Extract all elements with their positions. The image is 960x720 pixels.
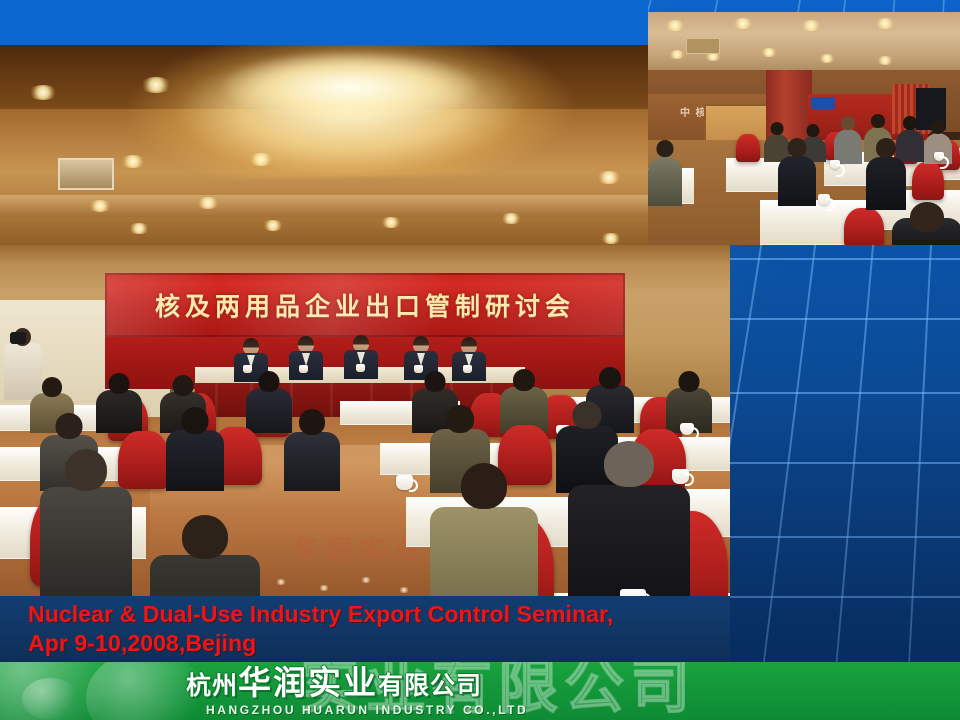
coffee-mug bbox=[620, 589, 646, 596]
inset-ceiling-spotlight bbox=[874, 18, 896, 29]
company-logo: 杭州华润实业有限公司 HANGZHOU HUARUN INDUSTRY CO.,… bbox=[186, 664, 786, 720]
presentation-slide: 核及两用品企业出口管制研讨会 华润实业 bbox=[0, 0, 960, 720]
slide-caption: Nuclear & Dual-Use Industry Export Contr… bbox=[0, 596, 730, 662]
top-blue-strip bbox=[0, 0, 648, 45]
inset-ceiling-spotlight bbox=[876, 56, 894, 65]
coffee-mug bbox=[672, 469, 689, 484]
table-cup bbox=[356, 364, 365, 372]
banner-fabric-sheen bbox=[105, 273, 625, 337]
inset-ceiling-spotlight bbox=[664, 20, 686, 31]
ceiling-spotlight bbox=[262, 220, 284, 231]
chandelier-core bbox=[175, 47, 525, 127]
inset-ceiling-spotlight bbox=[760, 48, 778, 57]
delegate bbox=[500, 369, 548, 433]
delegate bbox=[568, 441, 690, 596]
inset-coffee-mug bbox=[830, 160, 840, 169]
inset-chair bbox=[736, 134, 760, 162]
delegate bbox=[284, 409, 340, 491]
inset-delegate bbox=[866, 138, 906, 210]
ceiling-spotlight bbox=[140, 77, 172, 93]
ceiling-spotlight bbox=[248, 153, 274, 166]
ceiling-spotlight bbox=[88, 200, 112, 212]
caption-line-date-location: Apr 9-10,2008,Bejing bbox=[28, 629, 730, 658]
inset-ceiling-spotlight bbox=[800, 20, 822, 31]
ceiling-spotlight bbox=[28, 85, 58, 100]
delegate bbox=[40, 449, 132, 596]
company-name-chinese: 杭州华润实业有限公司 bbox=[186, 664, 482, 702]
ceiling-spotlight bbox=[500, 213, 522, 224]
company-name-main: 华润实业 bbox=[238, 663, 378, 702]
inset-delegate bbox=[778, 138, 816, 206]
company-name-prefix: 杭州 bbox=[186, 671, 238, 700]
coffee-mug bbox=[396, 475, 413, 490]
company-logo-band: 实业有限公司 杭州华润实业有限公司 HANGZHOU HUARUN INDUST… bbox=[0, 662, 960, 720]
company-name-suffix: 有限公司 bbox=[378, 671, 482, 700]
delegate bbox=[430, 463, 538, 596]
inset-delegate bbox=[648, 140, 682, 206]
inset-coffee-mug bbox=[934, 152, 944, 161]
head-table-official bbox=[289, 336, 323, 380]
delegate bbox=[166, 407, 224, 491]
inset-ceiling-spotlight bbox=[818, 54, 836, 63]
inset-chair bbox=[844, 208, 884, 245]
ceiling-spotlight bbox=[380, 217, 402, 228]
logo-bubble bbox=[22, 678, 78, 720]
inset-blue-screen bbox=[811, 97, 835, 109]
floor-light-reflection bbox=[398, 587, 410, 593]
main-conference-photo: 核及两用品企业出口管制研讨会 华润实业 bbox=[0, 45, 730, 596]
coffee-mug bbox=[680, 423, 694, 435]
ceiling-spotlight bbox=[128, 223, 150, 234]
inset-delegate-foreground bbox=[892, 202, 960, 245]
company-name-english: HANGZHOU HUARUN INDUSTRY CO.,LTD bbox=[206, 702, 528, 719]
ceiling-spotlight bbox=[596, 171, 622, 184]
floor-light-reflection bbox=[360, 577, 372, 583]
inset-delegate bbox=[834, 116, 862, 164]
floor-light-reflection bbox=[275, 579, 287, 585]
ceiling-spotlight bbox=[600, 233, 622, 244]
ceiling-spotlight bbox=[196, 197, 220, 209]
ceiling-air-vent bbox=[58, 158, 114, 190]
ceiling-spotlight bbox=[120, 155, 146, 168]
floor-light-reflection bbox=[318, 585, 330, 591]
caption-line-title: Nuclear & Dual-Use Industry Export Contr… bbox=[28, 600, 730, 629]
inset-ceiling-spotlight bbox=[732, 18, 754, 29]
inset-delegates-photo: 中 核 bbox=[648, 12, 960, 245]
inset-ceiling-spotlight bbox=[668, 50, 686, 59]
delegate bbox=[96, 373, 142, 433]
head-table-official bbox=[344, 335, 378, 379]
inset-coffee-mug bbox=[818, 194, 830, 205]
table-cup bbox=[463, 365, 472, 373]
delegate bbox=[150, 515, 260, 596]
table-cup bbox=[299, 365, 308, 373]
inset-air-vent bbox=[686, 38, 720, 54]
